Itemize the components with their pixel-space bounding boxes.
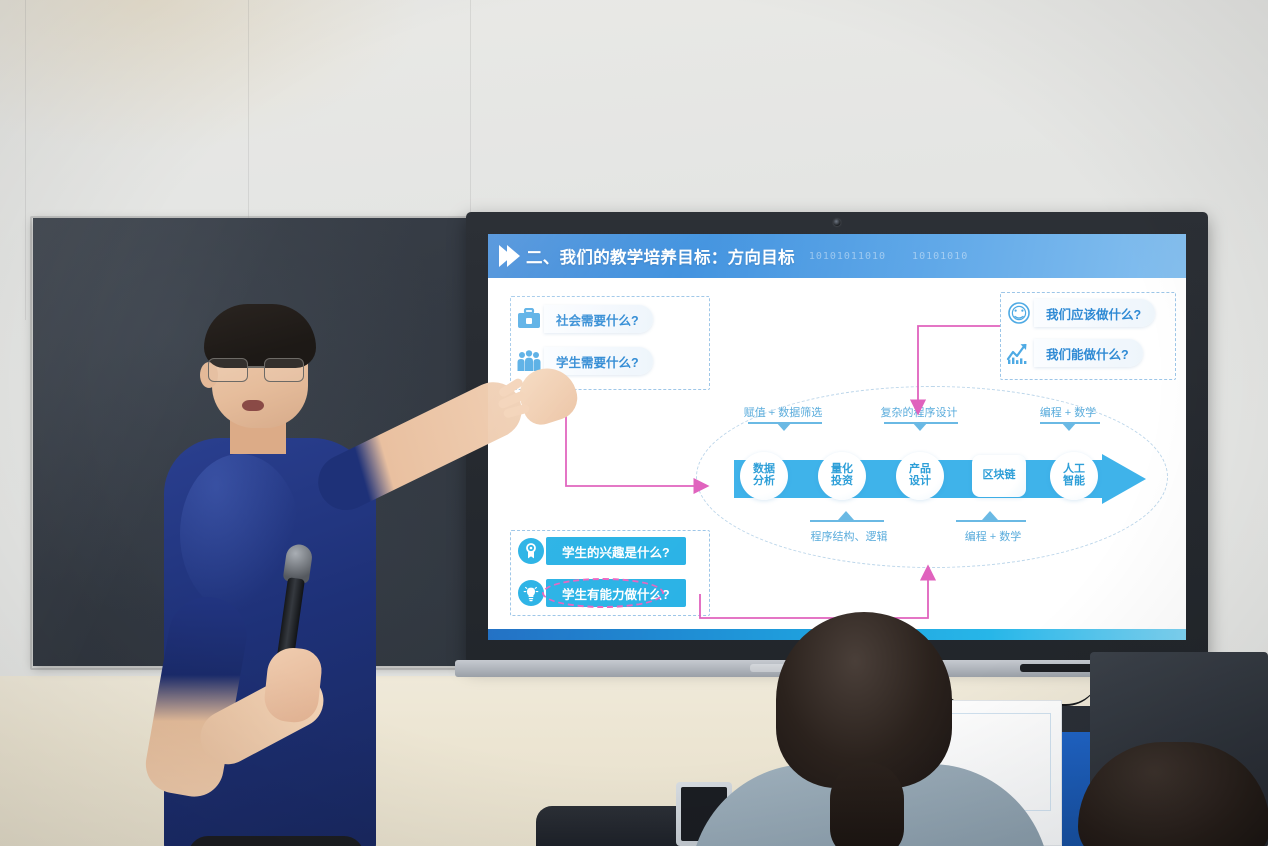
flow-node-5[interactable]: 人工 智能 — [1050, 452, 1098, 500]
badge-medal-icon — [516, 536, 546, 566]
flow-tag-below-2: 编程 + 数学 — [938, 528, 1048, 544]
pill-can-do[interactable]: 我们能做什么? — [1034, 339, 1143, 367]
wall-seam — [25, 0, 26, 320]
flow-tag-pointer — [912, 422, 928, 431]
flow-tag-above-3: 编程 + 数学 — [1018, 404, 1118, 420]
flow-tag-pointer — [982, 511, 998, 520]
flow-tag-above-1: 赋值 + 数据筛选 — [728, 404, 838, 420]
flow-node-3-line2: 设计 — [909, 476, 931, 488]
slide-title: 二、我们的教学培养目标：方向目标 — [526, 244, 795, 268]
camera-icon — [834, 219, 841, 226]
wall-light-warmth — [0, 0, 420, 150]
flow-tag-line — [810, 520, 884, 522]
gauge-icon — [1004, 298, 1034, 328]
briefcase-icon — [514, 304, 544, 334]
slide-header: 二、我们的教学培养目标：方向目标 10101011010 10101010 — [488, 234, 1186, 278]
flow-tag-below-1: 程序结构、逻辑 — [788, 528, 910, 544]
pill-should-do[interactable]: 我们应该做什么? — [1034, 299, 1155, 327]
presenter — [150, 296, 490, 846]
flow-node-5-line2: 智能 — [1063, 476, 1085, 488]
pill-student-interest[interactable]: 学生的兴趣是什么? — [546, 537, 686, 565]
skills-flow-diagram: 数据 分析 量化 投资 产品 设计 区块链 人工 — [734, 452, 1144, 504]
row-should-do[interactable]: 我们应该做什么? — [1004, 298, 1155, 328]
display-screen[interactable]: 二、我们的教学培养目标：方向目标 10101011010 10101010 — [488, 234, 1186, 640]
flow-tag-pointer — [1061, 422, 1077, 431]
row-can-do[interactable]: 我们能做什么? — [1004, 338, 1143, 368]
flow-tag-line — [956, 520, 1026, 522]
binary-decor-text-right: 10101010 — [912, 251, 968, 262]
highlight-annotation-ellipse — [542, 578, 664, 608]
audience-ponytail — [830, 762, 904, 846]
flow-tag-above-2: 复杂的程序设计 — [862, 404, 976, 420]
flow-tag-pointer — [776, 422, 792, 431]
presenter-mouth — [242, 400, 264, 411]
flow-tag-pointer — [838, 511, 854, 520]
presenter-legs — [188, 836, 364, 846]
smartboard-display[interactable]: 二、我们的教学培养目标：方向目标 10101011010 10101010 — [466, 212, 1208, 664]
classroom-scene: 二、我们的教学培养目标：方向目标 10101011010 10101010 — [0, 0, 1268, 846]
row-student-interest[interactable]: 学生的兴趣是什么? — [516, 536, 686, 566]
glasses-icon — [206, 358, 314, 382]
flow-node-1[interactable]: 数据 分析 — [740, 452, 788, 500]
flow-node-2-line2: 投资 — [831, 476, 853, 488]
presentation-slide: 二、我们的教学培养目标：方向目标 10101011010 10101010 — [488, 234, 1186, 640]
audience-member-right — [1078, 742, 1268, 846]
row-society-need[interactable]: 社会需要什么? — [514, 304, 653, 334]
pill-society-need[interactable]: 社会需要什么? — [544, 305, 653, 333]
binary-decor-text-left: 10101011010 — [809, 251, 886, 262]
audience-member-front — [690, 612, 1020, 846]
audience-hair — [1078, 742, 1268, 846]
double-chevron-right-icon — [504, 245, 520, 267]
flow-node-2[interactable]: 量化 投资 — [818, 452, 866, 500]
flow-node-4-line1: 区块链 — [983, 470, 1016, 482]
chart-trending-up-icon — [1004, 338, 1034, 368]
flow-node-4[interactable]: 区块链 — [972, 455, 1026, 497]
flow-node-1-line2: 分析 — [753, 476, 775, 488]
flow-node-3[interactable]: 产品 设计 — [896, 452, 944, 500]
